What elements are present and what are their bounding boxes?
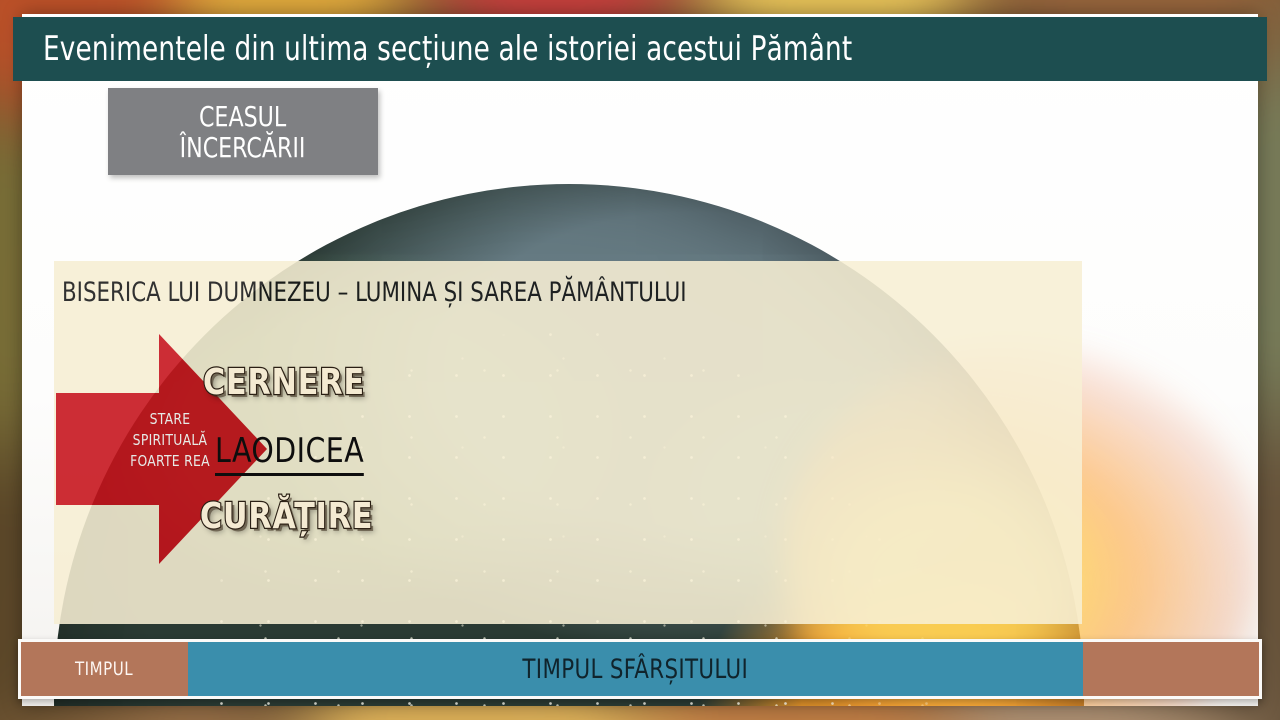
timeline-segment-timpul-sfarsitului-label: TIMPUL SFÂRȘITULUI xyxy=(523,654,749,685)
stage-label-laodicea: LAODICEA xyxy=(215,431,364,476)
ceasul-incercarii-badge: CEASUL ÎNCERCĂRII xyxy=(108,88,378,175)
timeline-bar: TIMPUL TIMPUL SFÂRȘITULUI xyxy=(18,639,1262,699)
timeline-segment-timpul[interactable]: TIMPUL xyxy=(21,642,188,696)
badge-line-2: ÎNCERCĂRII xyxy=(180,132,306,163)
slide-title-bar: Evenimentele din ultima secțiune ale ist… xyxy=(13,17,1267,81)
presentation-slide: Evenimentele din ultima secțiune ale ist… xyxy=(0,0,1280,720)
stage-label-curatire: CURĂȚIRE xyxy=(200,496,373,537)
timeline-segments: TIMPUL TIMPUL SFÂRȘITULUI xyxy=(21,642,1259,696)
church-panel: BISERICA LUI DUMNEZEU – LUMINA ȘI SAREA … xyxy=(54,261,1082,624)
badge-line-1: CEASUL xyxy=(199,101,286,132)
timeline-segment-timpul-sfarsitului[interactable]: TIMPUL SFÂRȘITULUI xyxy=(188,642,1083,696)
timeline-segment-after-end[interactable] xyxy=(1083,642,1259,696)
timeline-segment-timpul-label: TIMPUL xyxy=(75,658,133,680)
slide-title: Evenimentele din ultima secțiune ale ist… xyxy=(43,29,852,69)
panel-heading: BISERICA LUI DUMNEZEU – LUMINA ȘI SAREA … xyxy=(62,277,687,308)
stage-label-cernere: CERNERE xyxy=(203,362,365,403)
